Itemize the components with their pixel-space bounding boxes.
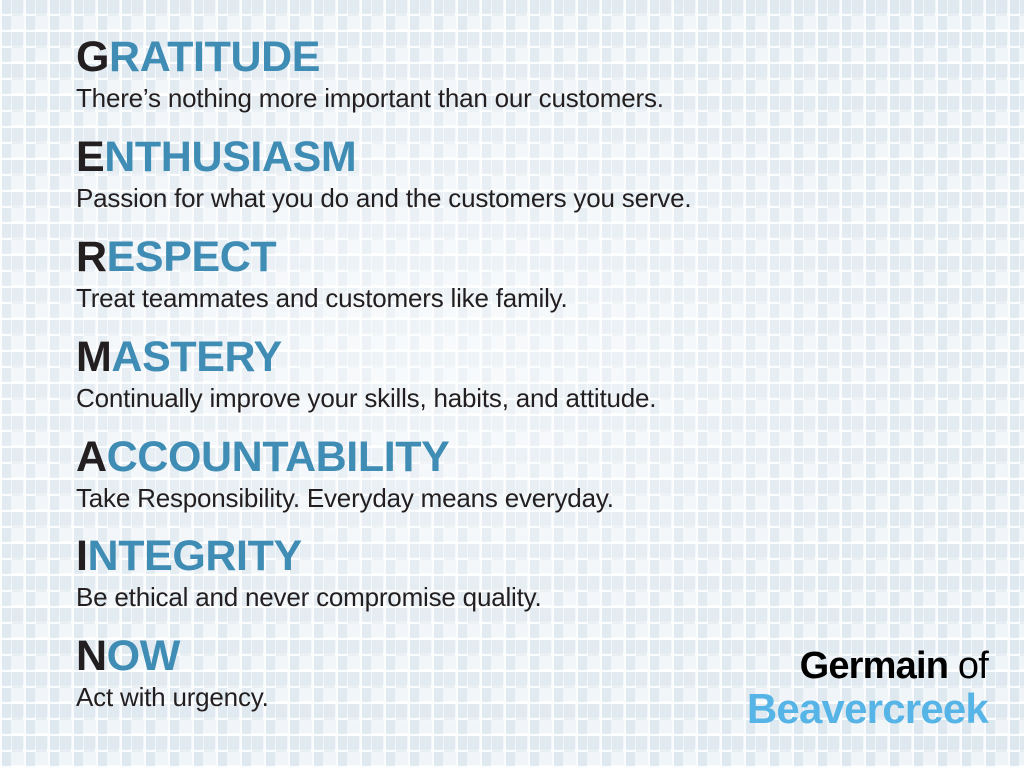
value-entry-respect: RESPECT Treat teammates and customers li…	[76, 236, 1004, 314]
value-description-respect: Treat teammates and customers like famil…	[76, 284, 1004, 314]
value-initial-letter: R	[76, 233, 107, 281]
brand-logo: Germain of Beavercreek	[747, 647, 988, 730]
value-remaining-letters: NTEGRITY	[88, 532, 302, 580]
values-slide: GRATITUDE There’s nothing more important…	[0, 0, 1024, 768]
brand-logo-line-primary: Germain of	[747, 647, 988, 685]
value-entry-enthusiasm: ENTHUSIASM Passion for what you do and t…	[76, 136, 1004, 214]
value-remaining-letters: OW	[107, 632, 180, 680]
value-remaining-letters: ASTERY	[111, 333, 281, 381]
value-remaining-letters: NTHUSIASM	[104, 133, 356, 181]
value-initial-letter: A	[76, 433, 107, 481]
brand-logo-name: Germain	[800, 645, 949, 687]
value-description-integrity: Be ethical and never compromise quality.	[76, 583, 1004, 613]
value-entry-mastery: MASTERY Continually improve your skills,…	[76, 336, 1004, 414]
value-heading-integrity: INTEGRITY	[76, 535, 1004, 578]
value-description-enthusiasm: Passion for what you do and the customer…	[76, 184, 1004, 214]
value-initial-letter: I	[76, 532, 88, 580]
value-heading-respect: RESPECT	[76, 236, 1004, 279]
brand-logo-location: Beavercreek	[747, 688, 988, 730]
value-initial-letter: N	[76, 632, 107, 680]
value-initial-letter: M	[76, 333, 111, 381]
value-heading-mastery: MASTERY	[76, 336, 1004, 379]
values-list: GRATITUDE There’s nothing more important…	[76, 36, 1004, 713]
value-entry-gratitude: GRATITUDE There’s nothing more important…	[76, 36, 1004, 114]
value-remaining-letters: CCOUNTABILITY	[107, 433, 450, 481]
value-initial-letter: E	[76, 133, 104, 181]
value-heading-enthusiasm: ENTHUSIASM	[76, 136, 1004, 179]
value-heading-accountability: ACCOUNTABILITY	[76, 436, 1004, 479]
value-entry-accountability: ACCOUNTABILITY Take Responsibility. Ever…	[76, 436, 1004, 514]
value-description-mastery: Continually improve your skills, habits,…	[76, 384, 1004, 414]
value-description-gratitude: There’s nothing more important than our …	[76, 84, 1004, 114]
brand-logo-connector: of	[948, 645, 988, 687]
value-heading-gratitude: GRATITUDE	[76, 36, 1004, 79]
value-remaining-letters: RATITUDE	[109, 33, 320, 81]
value-entry-integrity: INTEGRITY Be ethical and never compromis…	[76, 535, 1004, 613]
value-initial-letter: G	[76, 33, 109, 81]
value-remaining-letters: ESPECT	[107, 233, 277, 281]
value-description-accountability: Take Responsibility. Everyday means ever…	[76, 484, 1004, 514]
